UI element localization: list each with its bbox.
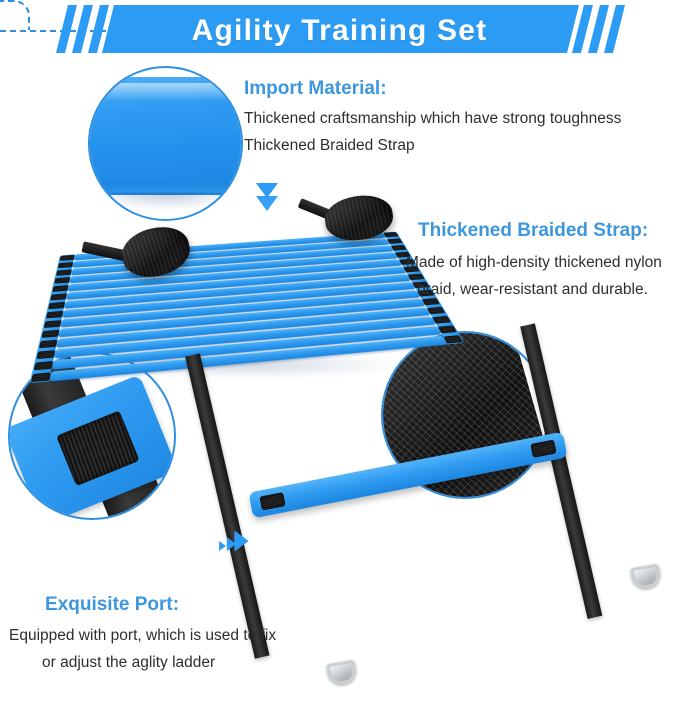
header-banner: Agility Training Set: [0, 0, 679, 62]
port-slot-opening: [56, 411, 139, 487]
material-heading: Import Material:: [244, 78, 387, 100]
braided-strap-line-2: braid, wear-resistant and durable.: [417, 281, 648, 299]
sheet-shadow: [96, 192, 235, 210]
lower-rung-port-left: [259, 492, 285, 510]
material-pointer-line: [0, 0, 30, 30]
braided-strap-line-1: Made of high-density thickened nylon: [406, 254, 662, 272]
material-line-2: Thickened Braided Strap: [244, 137, 415, 155]
chevron-down-icon: [256, 196, 278, 211]
braided-strap-heading: Thickened Braided Strap:: [418, 220, 648, 242]
chevron-right-icon: [234, 531, 248, 552]
rung-port-slot: [383, 232, 398, 237]
page-title: Agility Training Set: [0, 0, 679, 62]
port-line-1: Equipped with port, which is used to fix: [9, 627, 276, 645]
d-ring-buckle-right: [630, 564, 661, 590]
d-ring-buckle-left: [326, 660, 357, 686]
chevron-right-icon: [219, 541, 226, 551]
material-closeup-circle: [88, 66, 243, 221]
lower-rung-port-right: [530, 440, 556, 458]
material-line-1: Thickened craftsmanship which have stron…: [244, 110, 621, 128]
port-heading: Exquisite Port:: [45, 594, 179, 616]
rung-port-slot: [387, 238, 402, 243]
port-line-2: or adjust the aglity ladder: [42, 654, 215, 672]
sheet-gloss-highlight: [88, 83, 243, 101]
